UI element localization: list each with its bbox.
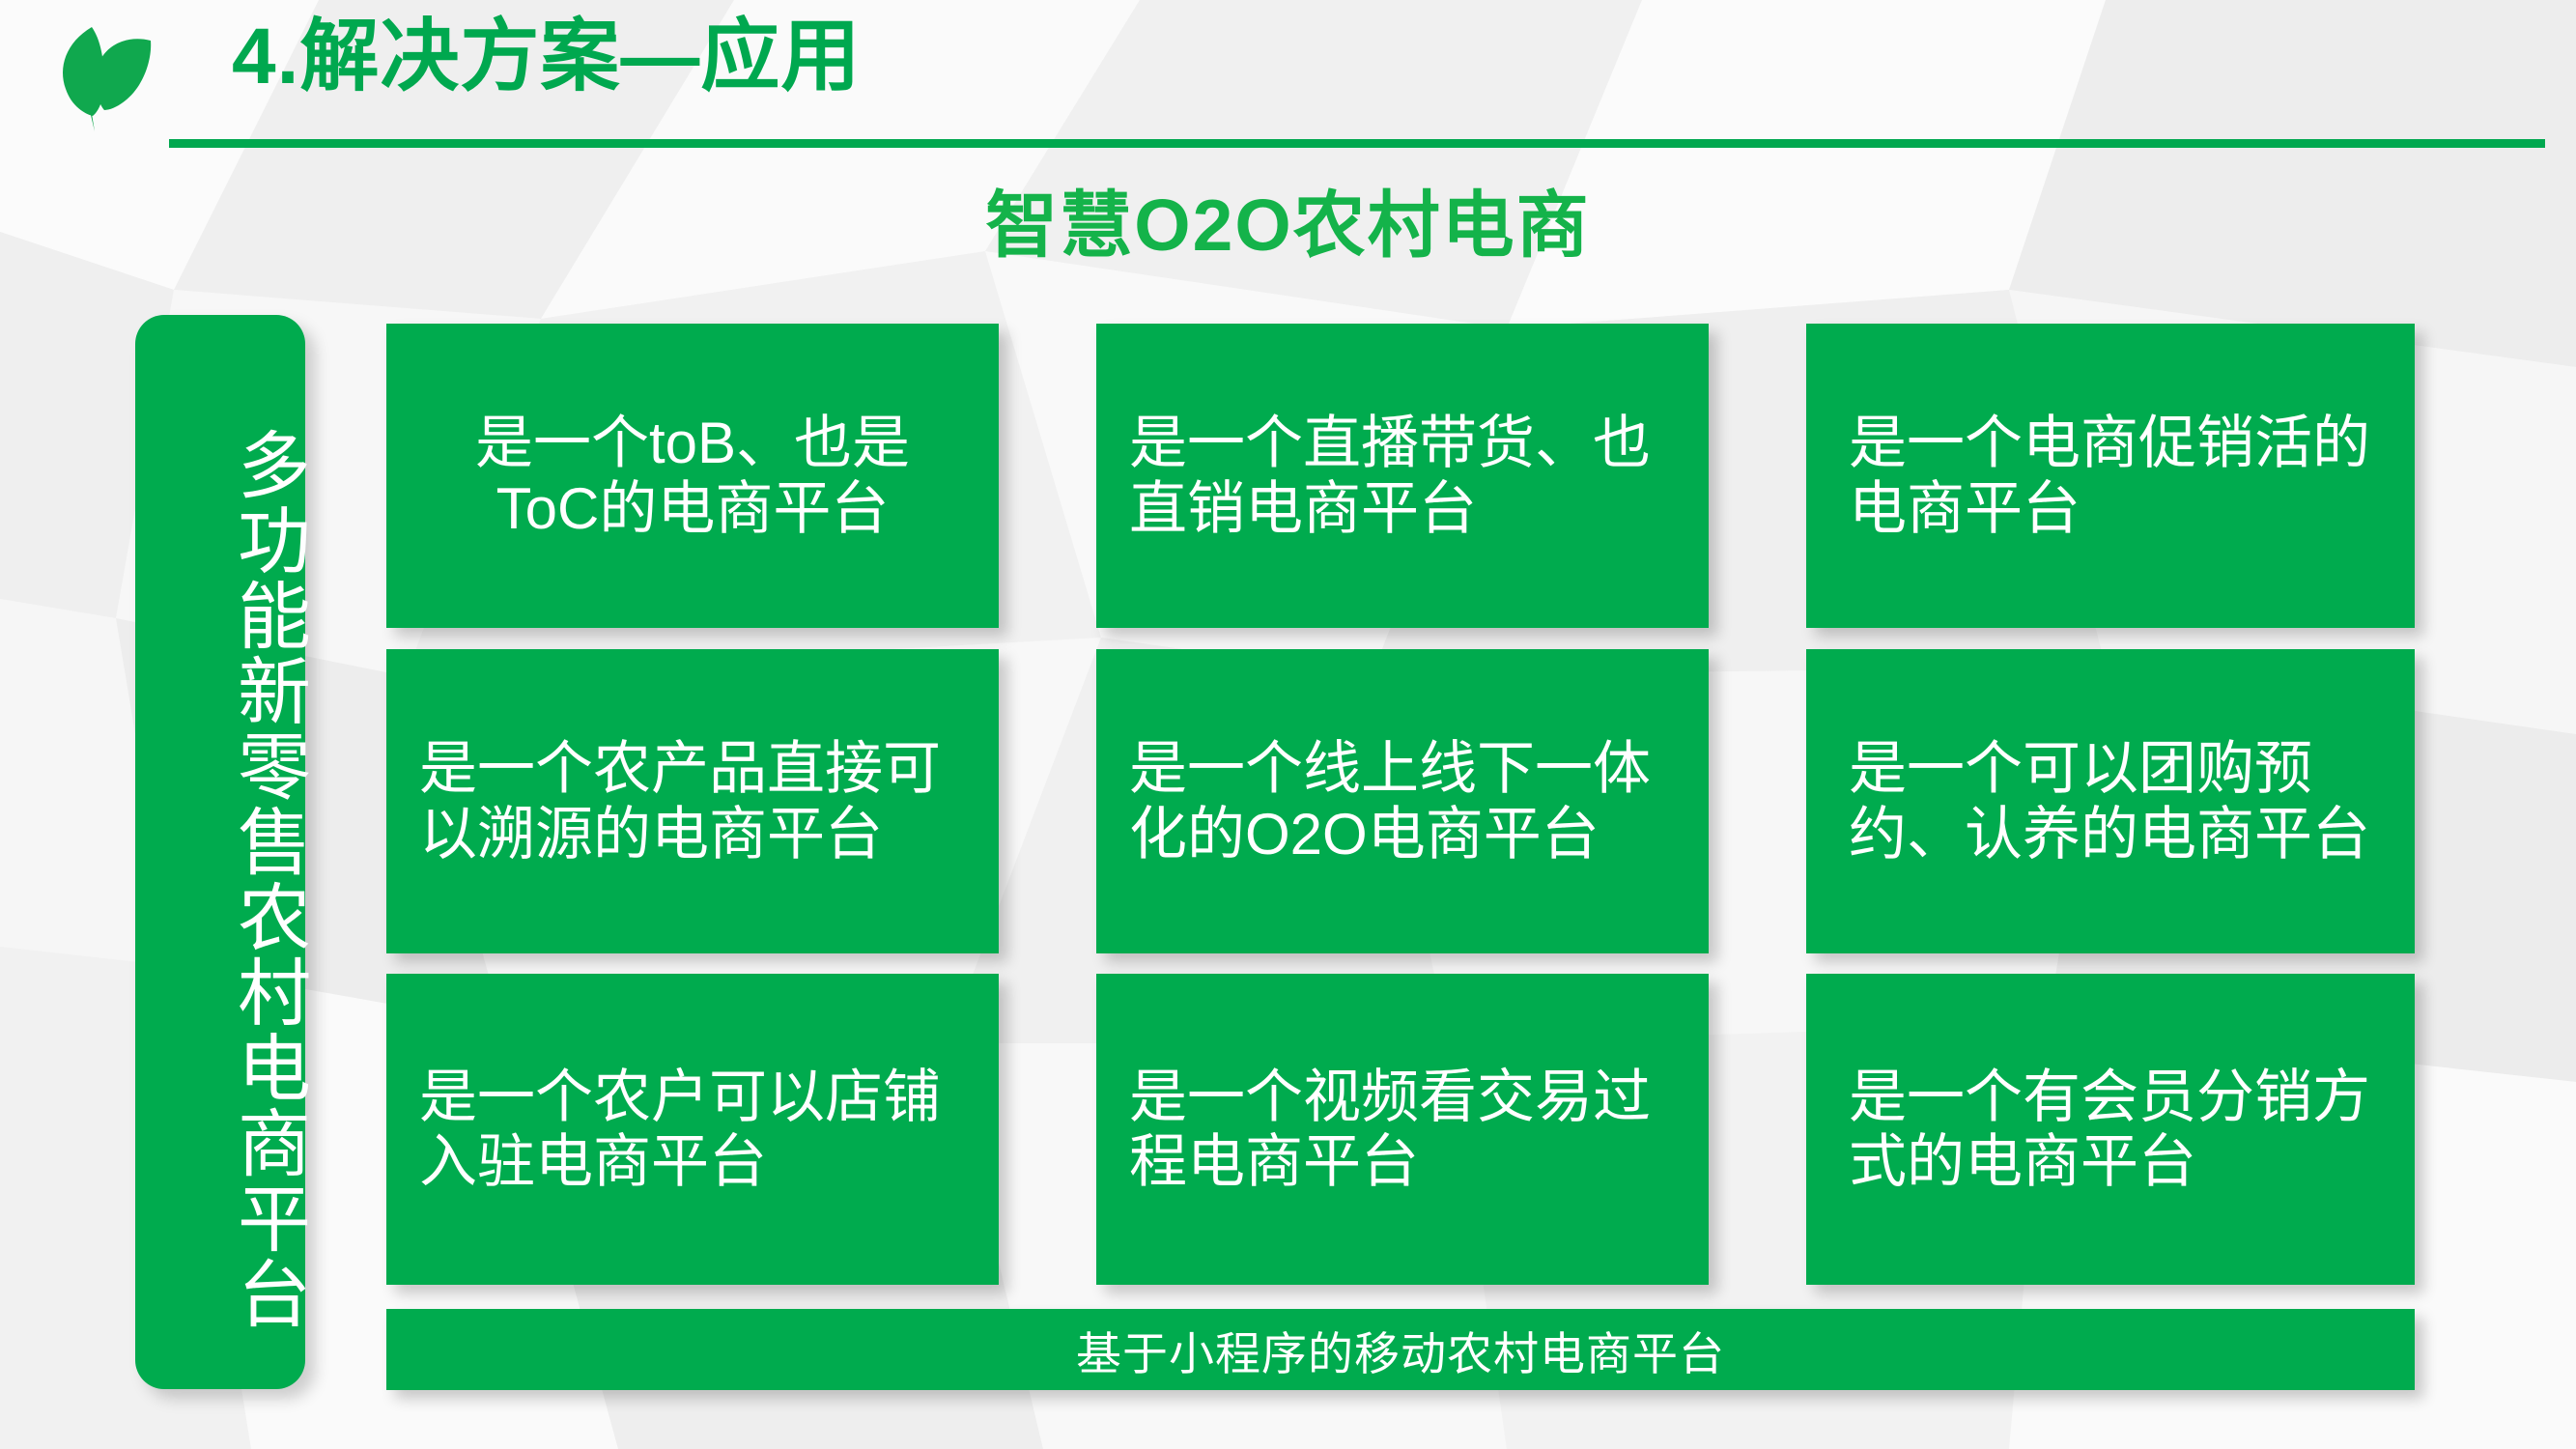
slide-root: 4.解决方案—应用 智慧O2O农村电商 多功能新零售农村电商平台 是一个toB、… bbox=[0, 0, 2576, 1449]
footer-banner: 基于小程序的移动农村电商平台 bbox=[386, 1309, 2415, 1390]
sidebar-label: 多功能新零售农村电商平台 bbox=[135, 315, 305, 1389]
page-title: 4.解决方案—应用 bbox=[232, 17, 861, 97]
feature-card-text: 是一个线上线下一体化的O2O电商平台 bbox=[1096, 736, 1709, 866]
feature-card[interactable]: 是一个有会员分销方式的电商平台 bbox=[1806, 974, 2415, 1285]
feature-card-grid: 是一个toB、也是ToC的电商平台 是一个直播带货、也直销电商平台 是一个电商促… bbox=[386, 324, 2415, 1285]
feature-card[interactable]: 是一个农户可以店铺入驻电商平台 bbox=[386, 974, 999, 1285]
feature-card[interactable]: 是一个可以团购预约、认养的电商平台 bbox=[1806, 649, 2415, 953]
feature-card[interactable]: 是一个电商促销活的电商平台 bbox=[1806, 324, 2415, 628]
feature-card[interactable]: 是一个线上线下一体化的O2O电商平台 bbox=[1096, 649, 1709, 953]
feature-card-text: 是一个直播带货、也直销电商平台 bbox=[1096, 411, 1709, 540]
feature-card-text: 是一个有会员分销方式的电商平台 bbox=[1806, 1065, 2415, 1194]
leaf-sprout-icon bbox=[37, 8, 162, 143]
feature-card[interactable]: 是一个农产品直接可以溯源的电商平台 bbox=[386, 649, 999, 953]
feature-card-text: 是一个toB、也是ToC的电商平台 bbox=[386, 411, 999, 540]
slide-header: 4.解决方案—应用 bbox=[0, 0, 2576, 164]
feature-card-text: 是一个可以团购预约、认养的电商平台 bbox=[1806, 736, 2415, 866]
main-heading: 智慧O2O农村电商 bbox=[0, 184, 2576, 267]
feature-card-text: 是一个农户可以店铺入驻电商平台 bbox=[386, 1065, 999, 1194]
feature-card-text: 是一个电商促销活的电商平台 bbox=[1806, 411, 2415, 540]
sidebar-vertical-banner: 多功能新零售农村电商平台 bbox=[135, 315, 305, 1389]
feature-card[interactable]: 是一个视频看交易过程电商平台 bbox=[1096, 974, 1709, 1285]
feature-card-text: 是一个农产品直接可以溯源的电商平台 bbox=[386, 736, 999, 866]
header-divider bbox=[169, 139, 2545, 148]
feature-card-text: 是一个视频看交易过程电商平台 bbox=[1096, 1065, 1709, 1194]
feature-card[interactable]: 是一个toB、也是ToC的电商平台 bbox=[386, 324, 999, 628]
feature-card[interactable]: 是一个直播带货、也直销电商平台 bbox=[1096, 324, 1709, 628]
